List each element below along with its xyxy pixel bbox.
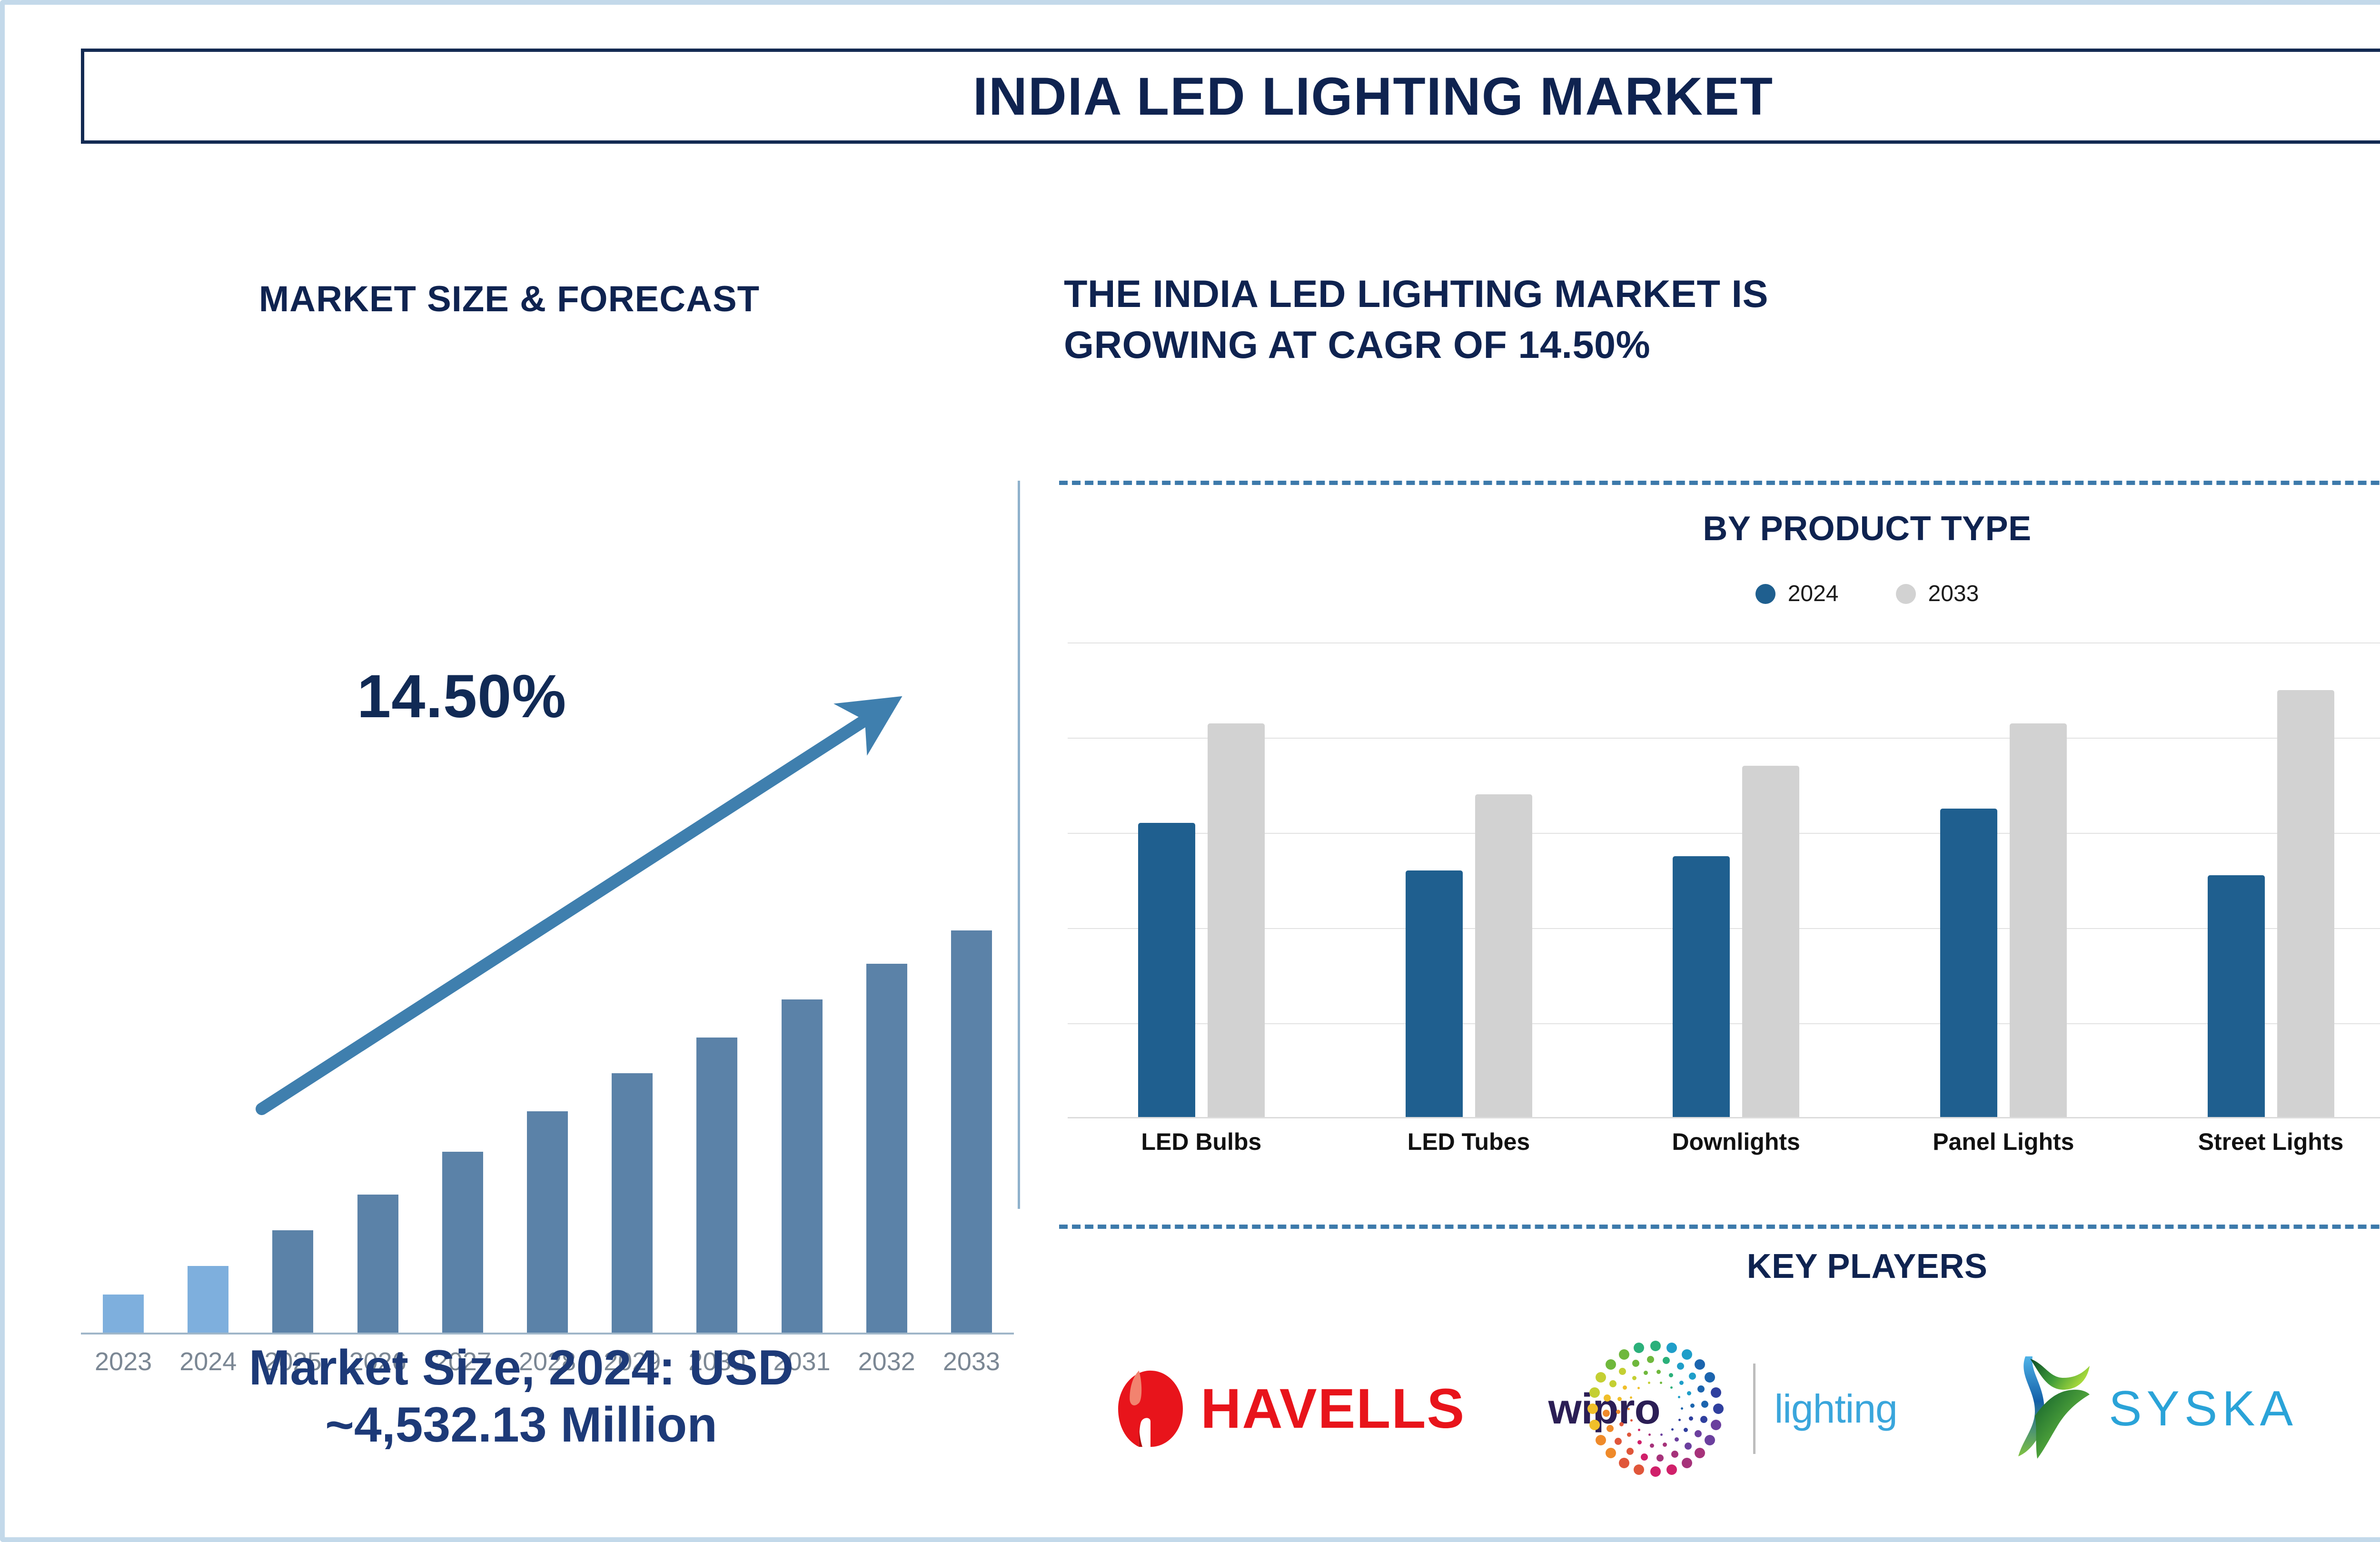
legend-label: 2033 <box>1928 581 1979 607</box>
product-bar <box>1673 856 1730 1117</box>
wipro-dot <box>1589 1387 1600 1398</box>
legend-swatch-icon <box>1896 584 1916 604</box>
market-size-value: Market Size, 2024: USD ~4,532.13 Million <box>33 1340 1009 1453</box>
wipro-dot <box>1679 1381 1684 1385</box>
wipro-dot <box>1606 1448 1616 1458</box>
product-bar <box>1208 723 1265 1117</box>
wipro-spiral-icon: wipro <box>1577 1330 1734 1487</box>
wipro-dot <box>1669 1373 1673 1377</box>
wipro-dot <box>1687 1391 1691 1395</box>
headline-line-2: GROWING AT CAGR OF 14.50% <box>1064 320 2349 371</box>
wipro-dot <box>1682 1458 1692 1468</box>
wipro-dot <box>1648 1433 1651 1436</box>
left-panel: MARKET SIZE & FORECAST 14.50% 2023202420… <box>33 162 1004 1509</box>
wipro-dot <box>1700 1416 1707 1423</box>
bar-group <box>1940 642 2067 1117</box>
logo-syska: SYSKA <box>2009 1349 2298 1468</box>
wipro-wordmark: wipro <box>1548 1385 1660 1434</box>
wipro-dot <box>1666 1343 1677 1353</box>
market-size-bar <box>272 1230 313 1333</box>
wipro-dot <box>1711 1387 1721 1398</box>
wipro-dot <box>1587 1404 1598 1414</box>
product-category-label: Downlights <box>1636 1128 1836 1156</box>
wipro-dot <box>1660 1382 1662 1384</box>
wipro-dot <box>1695 1430 1702 1437</box>
wipro-dot <box>1637 1387 1640 1389</box>
legend-label: 2024 <box>1788 581 1839 607</box>
product-bar <box>1742 766 1799 1117</box>
market-size-bar <box>103 1295 144 1333</box>
wipro-dot <box>1615 1438 1622 1445</box>
wipro-dot <box>1711 1420 1721 1430</box>
wipro-dot <box>1663 1357 1670 1364</box>
wipro-dot <box>1619 1458 1629 1468</box>
wipro-dot <box>1656 1370 1661 1374</box>
market-size-bar <box>188 1266 228 1333</box>
market-size-line-2: ~4,532.13 Million <box>33 1397 1009 1454</box>
legend-item[interactable]: 2033 <box>1896 581 1979 607</box>
product-category-label: Panel Lights <box>1904 1128 2103 1156</box>
market-size-bar <box>527 1111 568 1333</box>
wipro-dot <box>1678 1419 1681 1421</box>
product-bar <box>1138 823 1195 1117</box>
wipro-dot <box>1650 1466 1661 1477</box>
wipro-dot <box>1609 1380 1616 1387</box>
wipro-dot <box>1603 1410 1610 1417</box>
legend-item[interactable]: 2024 <box>1755 581 1839 607</box>
wipro-dot <box>1690 1404 1695 1408</box>
bar-group <box>1138 642 1265 1117</box>
wipro-dot <box>1663 1443 1667 1447</box>
product-chart-baseline <box>1068 1117 2380 1118</box>
market-size-forecast-heading: MARKET SIZE & FORECAST <box>33 278 985 320</box>
market-size-axis-line <box>81 1333 1014 1334</box>
wipro-dot <box>1617 1397 1622 1401</box>
havells-wordmark: HAVELLS <box>1200 1376 1465 1441</box>
wipro-dot <box>1705 1372 1715 1383</box>
wipro-dot <box>1606 1425 1614 1432</box>
wipro-dot <box>1685 1443 1692 1450</box>
product-bar <box>1475 794 1532 1117</box>
wipro-dot <box>1637 1440 1642 1444</box>
legend-swatch-icon <box>1755 584 1775 604</box>
wipro-dot <box>1606 1359 1616 1370</box>
chart-legend: 20242033 <box>1059 581 2380 607</box>
market-size-bar <box>951 930 992 1333</box>
market-size-bar <box>442 1152 483 1333</box>
market-size-line-1: Market Size, 2024: USD <box>33 1340 1009 1397</box>
by-product-type-title: BY PRODUCT TYPE <box>1059 509 2380 548</box>
right-panel: THE INDIA LED LIGHTING MARKET IS GROWING… <box>1059 162 2380 1513</box>
bar-group <box>2208 642 2334 1117</box>
wipro-dot <box>1596 1372 1606 1383</box>
wipro-dot <box>1634 1343 1644 1353</box>
wipro-dot <box>1641 1453 1648 1461</box>
headline-line-1: THE INDIA LED LIGHTING MARKET IS <box>1064 269 2349 320</box>
wipro-dot <box>1619 1368 1626 1375</box>
product-bar <box>2208 875 2265 1117</box>
panel-divider <box>1018 481 1020 1209</box>
bar-group <box>1406 642 1532 1117</box>
wipro-lighting-wordmark: lighting <box>1775 1386 1897 1432</box>
wipro-dot <box>1656 1454 1664 1462</box>
wipro-dot <box>1623 1385 1627 1390</box>
wipro-dot <box>1647 1356 1654 1363</box>
product-bar <box>2010 723 2067 1117</box>
logo-havells: HAVELLS <box>1115 1368 1465 1449</box>
wipro-dot <box>1678 1396 1680 1398</box>
wipro-dot <box>1626 1448 1634 1455</box>
wipro-dot <box>1701 1401 1708 1408</box>
wipro-dot <box>1648 1382 1650 1384</box>
wipro-dot <box>1677 1363 1684 1370</box>
product-category-label: LED Bulbs <box>1101 1128 1301 1156</box>
wipro-dot <box>1660 1433 1663 1436</box>
wipro-dot <box>1634 1464 1644 1475</box>
market-size-bar <box>866 964 907 1333</box>
wipro-dot <box>1713 1404 1724 1414</box>
key-players-title: KEY PLAYERS <box>1059 1247 2380 1286</box>
wipro-dot <box>1705 1435 1715 1445</box>
wipro-dot <box>1619 1349 1629 1360</box>
wipro-dot <box>1632 1376 1636 1380</box>
market-size-forecast-chart: 2023202420252026202720282029203020312032… <box>62 524 1023 1380</box>
product-category-labels: LED BulbsLED TubesDownlightsPanel Lights… <box>1068 1128 2380 1171</box>
market-size-bars <box>81 524 1014 1333</box>
wipro-separator <box>1753 1364 1755 1454</box>
by-product-type-chart <box>1068 642 2380 1118</box>
wipro-dot <box>1681 1407 1683 1410</box>
wipro-dot <box>1695 1359 1705 1370</box>
market-size-bar <box>782 999 823 1333</box>
title-frame: INDIA LED LIGHTING MARKET <box>81 49 2380 144</box>
havells-mark-icon <box>1115 1368 1186 1449</box>
wipro-dot <box>1644 1371 1648 1375</box>
logo-wipro-lighting: wipro lighting <box>1577 1330 1897 1487</box>
wipro-dot <box>1689 1416 1693 1421</box>
page-title: INDIA LED LIGHTING MARKET <box>973 66 1774 127</box>
wipro-dot <box>1684 1428 1688 1432</box>
wipro-dot <box>1671 1428 1674 1431</box>
syska-wordmark: SYSKA <box>2109 1381 2298 1437</box>
market-size-bar <box>612 1073 653 1333</box>
wipro-dot <box>1596 1435 1606 1445</box>
product-bar <box>1940 809 1997 1117</box>
headline: THE INDIA LED LIGHTING MARKET IS GROWING… <box>1064 269 2349 371</box>
wipro-dot <box>1638 1429 1640 1431</box>
product-category-label: LED Tubes <box>1369 1128 1569 1156</box>
wipro-dot <box>1650 1443 1654 1448</box>
market-size-bar <box>696 1038 737 1333</box>
divider-dashed-bottom <box>1059 1225 2380 1229</box>
product-bar <box>1406 870 1463 1117</box>
wipro-dot <box>1675 1437 1679 1442</box>
product-bar <box>2277 690 2334 1117</box>
wipro-dot <box>1682 1349 1692 1360</box>
market-size-bar <box>357 1195 398 1333</box>
wipro-dot <box>1689 1373 1696 1380</box>
product-category-label: Street Lights <box>2171 1128 2371 1156</box>
wipro-dot <box>1632 1360 1639 1367</box>
wipro-dot <box>1670 1386 1673 1389</box>
bar-group <box>1673 642 1799 1117</box>
infographic-page: INDIA LED LIGHTING MARKET MARKET SIZE & … <box>0 0 2380 1542</box>
syska-swoosh-icon <box>2009 1349 2104 1468</box>
wipro-dot <box>1666 1464 1677 1475</box>
wipro-dot <box>1627 1433 1631 1437</box>
wipro-dot <box>1650 1341 1661 1351</box>
wipro-dot <box>1604 1394 1611 1402</box>
wipro-dot <box>1695 1448 1705 1458</box>
wipro-dot <box>1671 1451 1678 1458</box>
wipro-dot <box>1697 1385 1705 1393</box>
key-players-logos: HAVELLS wipro lighting <box>1059 1314 2380 1504</box>
divider-dashed-top <box>1059 481 2380 485</box>
